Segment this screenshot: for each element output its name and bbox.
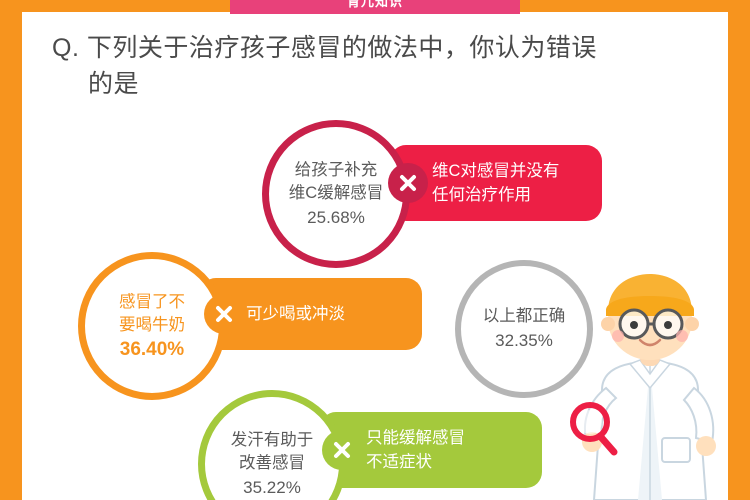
x-mark-icon xyxy=(322,430,362,470)
question-block: Q. 下列关于治疗孩子感冒的做法中，你认为错误 的是 xyxy=(52,30,702,102)
answer-label: 给孩子补充 维C缓解感冒 xyxy=(289,159,383,205)
answer-comment-text: 只能缓解感冒 不适症状 xyxy=(366,426,465,474)
x-mark-icon xyxy=(204,294,244,334)
x-mark-icon xyxy=(388,163,428,203)
answer-label: 感冒了不 要喝牛奶 xyxy=(119,291,185,337)
top-banner-label: 育儿知识 xyxy=(230,0,520,8)
answer-comment-text: 可少喝或冲淡 xyxy=(246,302,345,326)
answer-label: 发汗有助于 改善感冒 xyxy=(231,429,314,475)
infographic-page: 育儿知识 Q. 下列关于治疗孩子感冒的做法中，你认为错误 的是 维C对感冒并没有… xyxy=(0,0,750,500)
top-banner: 育儿知识 xyxy=(230,0,520,14)
frame-border-left xyxy=(0,0,22,500)
question-line-1: 下列关于治疗孩子感冒的做法中，你认为错误 xyxy=(87,34,597,62)
frame-border-top-right xyxy=(520,0,750,12)
frame-border-top-left xyxy=(0,0,230,12)
answer-comment-text: 维C对感冒并没有 任何治疗作用 xyxy=(432,159,559,207)
answer-percent: 32.35% xyxy=(495,328,553,353)
answer-percent: 36.40% xyxy=(120,337,184,362)
answer-percent: 35.22% xyxy=(243,475,301,500)
answer-percent: 25.68% xyxy=(307,205,365,230)
doctor-character xyxy=(560,270,740,500)
question-prefix: Q. xyxy=(52,34,79,62)
answer-circle-vitamin-c: 给孩子补充 维C缓解感冒 25.68% xyxy=(262,120,410,268)
answer-label: 以上都正确 xyxy=(483,305,566,328)
answer-circle-no-milk: 感冒了不 要喝牛奶 36.40% xyxy=(78,252,226,400)
question-line-2: 的是 xyxy=(52,66,702,102)
